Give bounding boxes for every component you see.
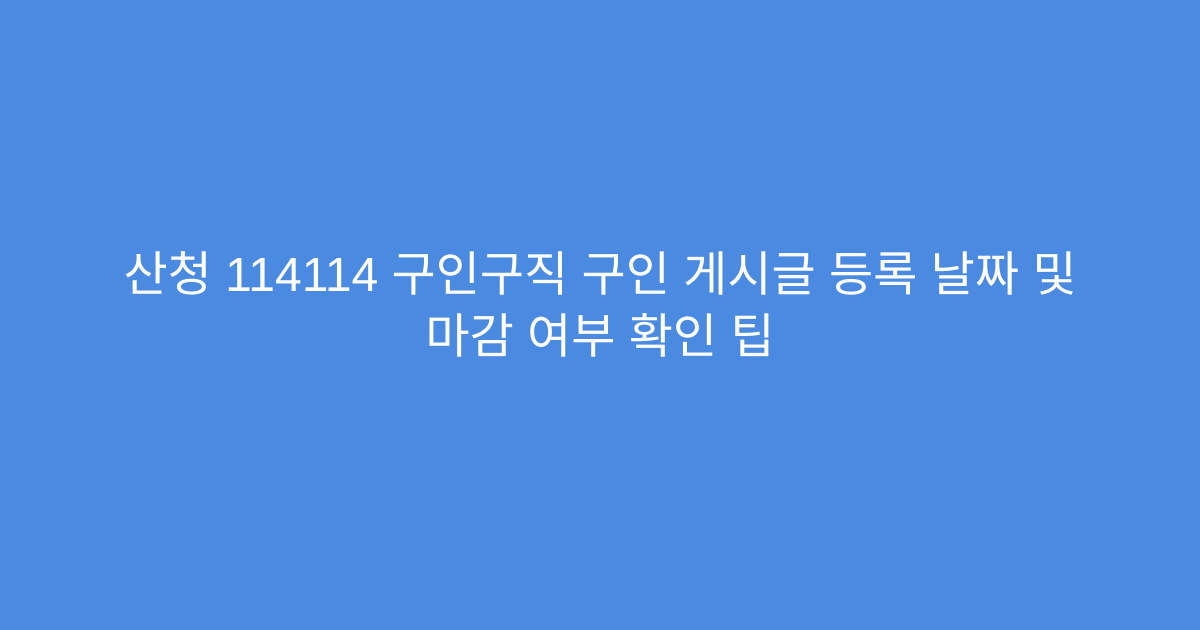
- og-card: 산청 114114 구인구직 구인 게시글 등록 날짜 및 마감 여부 확인 팁: [0, 0, 1200, 630]
- title-block: 산청 114114 구인구직 구인 게시글 등록 날짜 및 마감 여부 확인 팁: [70, 245, 1130, 369]
- page-title: 산청 114114 구인구직 구인 게시글 등록 날짜 및 마감 여부 확인 팁: [90, 245, 1110, 369]
